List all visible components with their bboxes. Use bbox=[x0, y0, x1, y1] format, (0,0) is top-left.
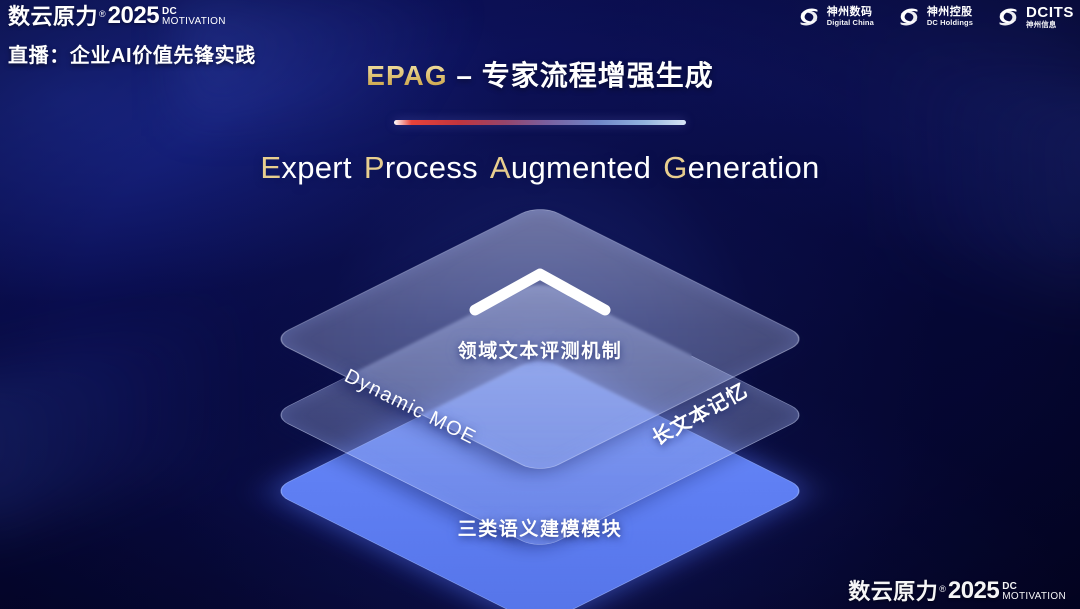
watermark-name-cn: 数云原力 bbox=[848, 581, 938, 603]
partner-logo-dc-holdings: 神州控股 DC Holdings bbox=[896, 4, 973, 30]
layer-stack-diagram: 领域文本评测机制 Dynamic MOE 长文本记忆 三类语义建模模块 bbox=[280, 238, 800, 578]
slide-canvas: 数云原力 ® 2025 DC MOTIVATION 直播：企业AI价值先锋实践 … bbox=[0, 0, 1080, 609]
subtitle-rest: ugmented bbox=[511, 150, 651, 185]
swirl-logo-icon bbox=[796, 4, 822, 30]
subtitle-rest: xpert bbox=[281, 150, 351, 185]
swirl-logo-icon bbox=[995, 4, 1021, 30]
header-left: 数云原力 ® 2025 DC MOTIVATION 直播：企业AI价值先锋实践 bbox=[8, 4, 256, 68]
partner-name-en: DC Holdings bbox=[927, 19, 973, 27]
subtitle-rest: eneration bbox=[688, 150, 820, 185]
partner-logo-group: 神州数码 Digital China 神州控股 DC Holdings DCIT… bbox=[796, 4, 1074, 30]
subtitle-word-augmented: Augmented bbox=[490, 150, 651, 185]
subtitle-initial: P bbox=[364, 150, 385, 185]
subtitle-initial: G bbox=[663, 150, 687, 185]
title-separator: – bbox=[448, 60, 482, 91]
brand-year: 2025 bbox=[108, 4, 159, 28]
live-stream-title: 直播：企业AI价值先锋实践 bbox=[8, 39, 256, 68]
partner-name-cn: DCITS bbox=[1026, 5, 1074, 21]
watermark-logo: 数云原力 ® 2025 DC MOTIVATION bbox=[848, 579, 1066, 603]
partner-name-en: Digital China bbox=[827, 19, 874, 27]
registered-mark-icon: ® bbox=[99, 10, 106, 19]
subtitle-initial: A bbox=[490, 150, 511, 185]
brand-motivation-text: MOTIVATION bbox=[162, 17, 226, 27]
partner-logo-digital-china: 神州数码 Digital China bbox=[796, 4, 874, 30]
registered-mark-icon: ® bbox=[939, 585, 946, 594]
title-divider bbox=[394, 120, 686, 125]
subtitle-rest: rocess bbox=[385, 150, 478, 185]
title-acronym: EPAG bbox=[366, 60, 447, 91]
title-chinese: 专家流程增强生成 bbox=[482, 60, 714, 91]
partner-label: 神州数码 Digital China bbox=[827, 7, 874, 27]
partner-logo-dcits: DCITS 神州信息 bbox=[995, 4, 1074, 30]
subtitle-word-expert: Expert bbox=[260, 150, 351, 185]
swirl-logo-icon bbox=[896, 4, 922, 30]
layer-label-top: 领域文本评测机制 bbox=[458, 336, 623, 363]
subtitle-word-generation: Generation bbox=[663, 150, 819, 185]
partner-name-en: 神州信息 bbox=[1026, 21, 1074, 29]
subtitle-word-process: Process bbox=[364, 150, 478, 185]
subtitle-initial: E bbox=[260, 150, 281, 185]
subtitle: ExpertProcessAugmentedGeneration bbox=[0, 150, 1080, 186]
watermark-year: 2025 bbox=[948, 579, 999, 603]
brand-name-cn: 数云原力 bbox=[8, 6, 98, 28]
partner-label: 神州控股 DC Holdings bbox=[927, 7, 973, 27]
layer-label-bottom: 三类语义建模模块 bbox=[458, 514, 623, 541]
brand-logo: 数云原力 ® 2025 DC MOTIVATION bbox=[8, 4, 256, 28]
brand-dc-motivation: DC MOTIVATION bbox=[162, 7, 226, 27]
partner-label: DCITS 神州信息 bbox=[1026, 5, 1074, 29]
watermark-motivation-text: MOTIVATION bbox=[1002, 592, 1066, 602]
